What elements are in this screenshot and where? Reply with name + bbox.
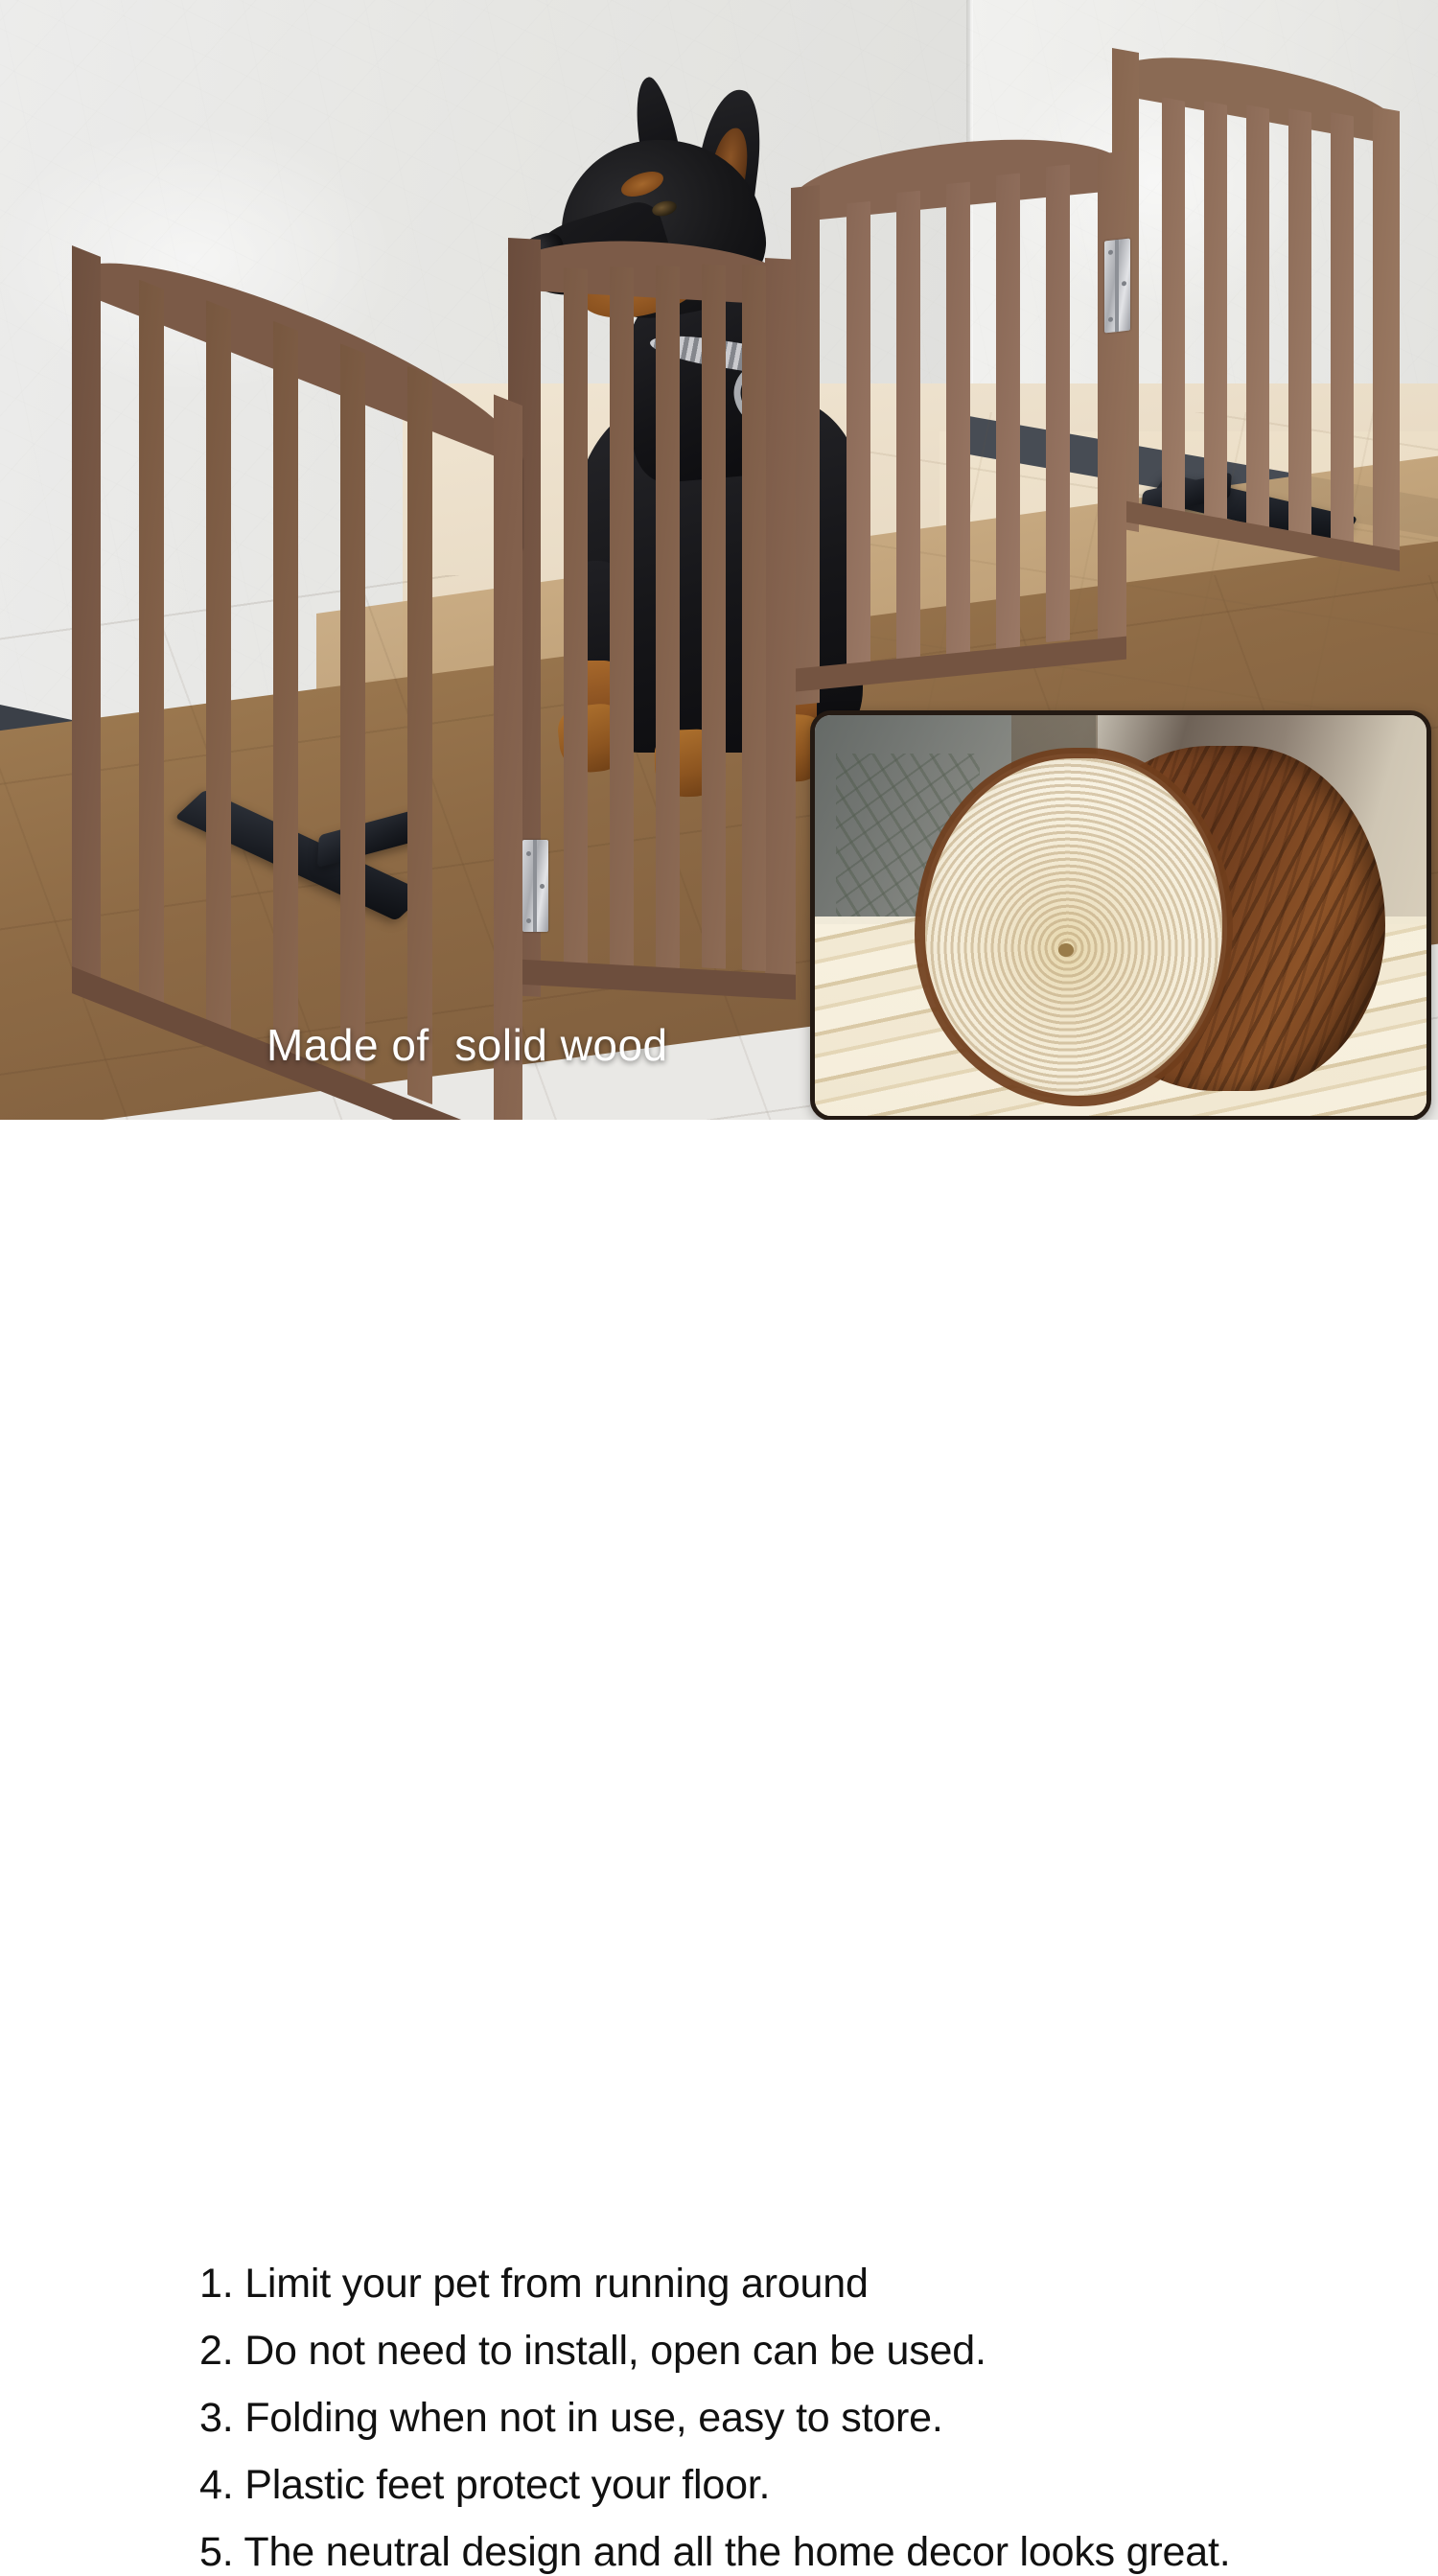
hero-caption: Made of solid wood [267,1019,668,1071]
hinge-screw [526,918,531,923]
hinge-pin [533,840,537,932]
feature-item: 3. Folding when not in use, easy to stor… [199,2395,943,2442]
panel-stile-right [1098,151,1126,653]
log-bark-edge [915,748,1233,1106]
feature-item: 1. Limit your pet from running around [199,2261,869,2308]
gate-panel-2 [508,238,796,1011]
panel-slat [702,264,726,968]
panel-slat [610,267,634,967]
feature-item: 5. The neutral design and all the home d… [199,2529,1230,2576]
panel-slat [340,343,365,1079]
inset-solid-wood-photo [810,710,1431,1120]
hinge-pin [1115,240,1119,332]
panel-slat [1204,101,1227,528]
hinge-screw [526,851,531,856]
panel-slat [742,265,766,971]
panel-slat [206,300,231,1031]
feature-item: 4. Plastic feet protect your floor. [199,2462,770,2509]
panel-stile-right [494,394,522,1120]
gate-panel-4 [1112,48,1400,598]
panel-slat [139,280,164,1007]
feature-list: 1. Limit your pet from running around 2.… [0,1120,1438,1438]
hero-product-photo: Made of solid wood [0,0,1438,1120]
panel-slat [996,174,1020,649]
hinge-screw [1108,316,1113,322]
gate-hinge [522,840,548,932]
panel-stile-left [72,245,101,1005]
product-image-page: Made of solid wood 1. Limit your pet fro… [0,0,1438,1438]
gate-panel-3 [791,151,1126,721]
panel-slat [1246,104,1269,534]
panel-slat [564,267,588,966]
hinge-screw [1108,249,1113,255]
feature-item: 2. Do not need to install, open can be u… [199,2328,986,2375]
panel-slat [273,321,298,1056]
panel-slat [656,266,680,968]
panel-slat [1046,164,1070,641]
gate-hinge [1104,239,1130,334]
hinge-screw [540,884,545,889]
hinge-screw [1122,281,1126,287]
panel-slat [1162,97,1185,522]
panel-slat [1288,108,1311,540]
panel-slat [946,182,970,656]
panel-stile-right [1373,106,1400,552]
panel-slat [847,201,870,669]
panel-slat [1331,112,1354,545]
panel-stile-right [765,258,796,988]
panel-slat [896,191,920,662]
gate-panel-1 [72,228,522,1120]
panel-slat [407,366,432,1104]
